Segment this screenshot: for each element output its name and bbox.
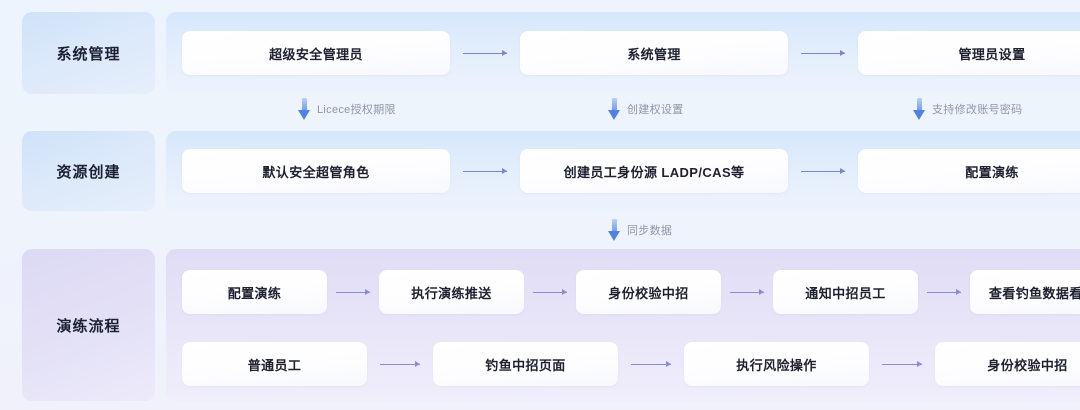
node-system-management[interactable]: 系统管理 xyxy=(520,31,788,75)
row-label-system-management: 系统管理 xyxy=(22,12,155,94)
arrow-right-icon xyxy=(463,166,507,176)
arrow-right-icon xyxy=(631,359,671,369)
diagram-row-resource-creation: 资源创建 默认安全超管角色 创建员工身份源 LADP/CAS等 配置演练 xyxy=(22,131,1060,211)
node-identity-verification-hit[interactable]: 身份校验中招 xyxy=(576,270,721,314)
arrow-right-icon xyxy=(533,287,567,297)
node-identity-verification-hit[interactable]: 身份校验中招 xyxy=(935,342,1080,386)
node-execute-risky-operation[interactable]: 执行风险操作 xyxy=(684,342,869,386)
connector-license-authorization: Licece授权期限 xyxy=(298,96,396,122)
arrow-right-icon xyxy=(730,287,764,297)
arrow-down-icon xyxy=(608,97,621,121)
arrow-down-icon xyxy=(913,97,926,121)
node-view-phishing-dashboard[interactable]: 查看钓鱼数据看板 xyxy=(970,270,1080,314)
connector-label: 创建权设置 xyxy=(627,101,684,117)
arrow-down-icon xyxy=(608,218,621,242)
row-panel-drill-process: 配置演练 执行演练推送 身份校验中招 通知中招员工 查看钓鱼数据看板 xyxy=(166,249,1080,401)
connector-create-permission-settings: 创建权设置 xyxy=(608,96,684,122)
arrow-right-icon xyxy=(336,287,370,297)
diagram-row-system-management: 系统管理 超级安全管理员 系统管理 管理员设置 xyxy=(22,12,1060,94)
flow-diagram: 系统管理 超级安全管理员 系统管理 管理员设置 Licece授权期限 xyxy=(0,0,1080,410)
node-lane-drill-top: 配置演练 执行演练推送 身份校验中招 通知中招员工 查看钓鱼数据看板 xyxy=(166,270,1080,314)
row-panel-system-management: 超级安全管理员 系统管理 管理员设置 xyxy=(166,12,1080,94)
arrow-right-icon xyxy=(882,359,922,369)
connector-label: 支持修改账号密码 xyxy=(932,101,1022,117)
connector-sync-data: 同步数据 xyxy=(608,217,672,243)
node-lane-system-management: 超级安全管理员 系统管理 管理员设置 xyxy=(166,31,1080,75)
node-regular-employee[interactable]: 普通员工 xyxy=(182,342,367,386)
arrow-right-icon xyxy=(927,287,961,297)
node-configure-drill[interactable]: 配置演练 xyxy=(858,149,1080,193)
connector-label: 同步数据 xyxy=(627,222,672,238)
arrow-right-icon xyxy=(801,48,845,58)
connector-support-change-password: 支持修改账号密码 xyxy=(913,96,1022,122)
node-execute-drill-push[interactable]: 执行演练推送 xyxy=(379,270,524,314)
node-default-security-superadmin-role[interactable]: 默认安全超管角色 xyxy=(182,149,450,193)
diagram-row-drill-process: 演练流程 配置演练 执行演练推送 身份校验中招 通知中招员工 xyxy=(22,249,1060,401)
arrow-right-icon xyxy=(463,48,507,58)
node-configure-drill[interactable]: 配置演练 xyxy=(182,270,327,314)
node-super-security-admin[interactable]: 超级安全管理员 xyxy=(182,31,450,75)
row-panel-resource-creation: 默认安全超管角色 创建员工身份源 LADP/CAS等 配置演练 xyxy=(166,131,1080,211)
node-admin-settings[interactable]: 管理员设置 xyxy=(858,31,1080,75)
connector-label: Licece授权期限 xyxy=(317,101,396,117)
node-phishing-landing-page[interactable]: 钓鱼中招页面 xyxy=(433,342,618,386)
row-label-drill-process: 演练流程 xyxy=(22,249,155,401)
node-create-employee-identity-source[interactable]: 创建员工身份源 LADP/CAS等 xyxy=(520,149,788,193)
node-lane-resource-creation: 默认安全超管角色 创建员工身份源 LADP/CAS等 配置演练 xyxy=(166,149,1080,193)
arrow-right-icon xyxy=(801,166,845,176)
node-lane-drill-bottom: 普通员工 钓鱼中招页面 执行风险操作 身份校验中招 xyxy=(166,342,1080,386)
node-notify-affected-employees[interactable]: 通知中招员工 xyxy=(773,270,918,314)
row-label-resource-creation: 资源创建 xyxy=(22,131,155,211)
arrow-right-icon xyxy=(380,359,420,369)
arrow-down-icon xyxy=(298,97,311,121)
